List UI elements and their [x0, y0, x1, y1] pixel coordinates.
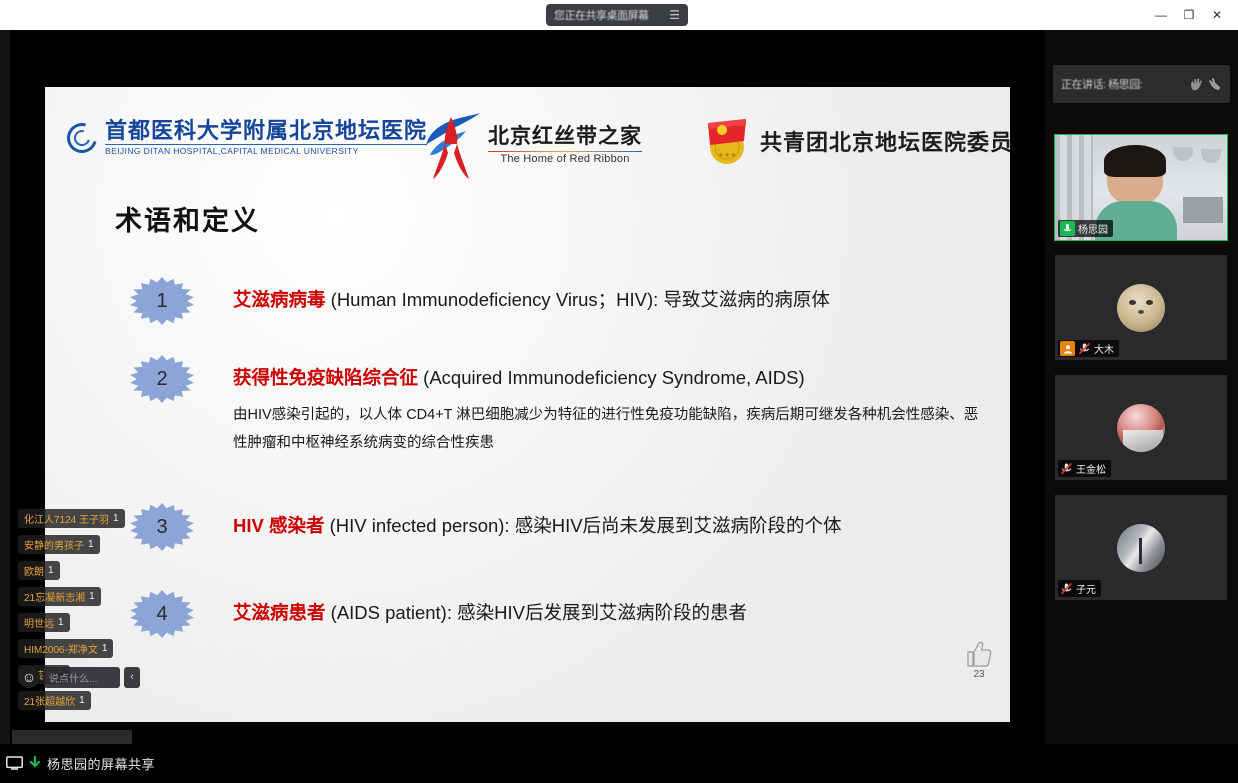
- meeting-stage: 首都医科大学附属北京地坛医院 BEIJING DITAN HOSPITAL,CA…: [0, 30, 1238, 783]
- chat-message-count: 1: [113, 513, 119, 524]
- logo-ditan-hospital: 首都医科大学附属北京地坛医院 BEIJING DITAN HOSPITAL,CA…: [67, 119, 427, 156]
- reaction-count: 23: [973, 669, 984, 680]
- avatar-placeholder-icon: [1060, 341, 1075, 356]
- screen-share-owner-text: 杨思园的屏幕共享: [47, 754, 155, 773]
- item-rest-4: (AIDS patient): 感染HIV后发展到艾滋病阶段的患者: [326, 602, 747, 623]
- cyl-logo-cn: 共青团北京地坛医院委员会: [760, 125, 1010, 157]
- chat-message: 明世远 1: [18, 613, 70, 632]
- participant-tile-0[interactable]: 杨思园: [1055, 135, 1227, 240]
- ditan-swirl-icon: [67, 123, 97, 153]
- chat-message: 安静的男孩子 1: [18, 535, 100, 554]
- avatar: [1117, 404, 1165, 452]
- item-heading-4: 艾滋病患者 (AIDS patient): 感染HIV后发展到艾滋病阶段的患者: [233, 599, 747, 625]
- restore-button[interactable]: ❐: [1182, 9, 1196, 21]
- hamburger-menu-icon[interactable]: ☰: [669, 9, 680, 21]
- item-heading-3: HIV 感染者 (HIV infected person): 感染HIV后尚未发…: [233, 512, 842, 538]
- chat-user-name: HIM2006-郑净文: [24, 641, 98, 656]
- item-body-2: 由HIV感染引起的，以人体 CD4+T 淋巴细胞减少为特征的进行性免疫功能缺陷，…: [233, 401, 983, 458]
- monitor-icon: [6, 756, 23, 771]
- chat-user-name: 欧朗: [24, 563, 44, 578]
- chat-message-count: 1: [79, 695, 85, 706]
- item-number-2: 2: [156, 368, 167, 391]
- download-arrow-icon: [28, 756, 42, 771]
- participant-tile-3[interactable]: 子元: [1055, 495, 1227, 600]
- item-rest-3: (HIV infected person): 感染HIV后尚未发展到艾滋病阶段的…: [324, 515, 841, 536]
- chat-user-name: 化江人7124 王子羽: [24, 511, 109, 526]
- ditan-logo-en: BEIJING DITAN HOSPITAL,CAPITAL MEDICAL U…: [105, 144, 427, 156]
- ribbon-logo-en: The Home of Red Ribbon: [488, 151, 642, 165]
- hand-wave-icon: [1189, 77, 1204, 92]
- item-term-3: HIV 感染者: [233, 515, 324, 536]
- avatar: [1117, 284, 1165, 332]
- chat-message-count: 1: [89, 591, 95, 602]
- youth-league-emblem-icon: ★★★: [700, 117, 754, 165]
- participant-label: 王金松: [1058, 460, 1111, 477]
- slide-title: 术语和定义: [115, 199, 260, 238]
- participant-rail: 正在讲话: 杨思园:: [1045, 30, 1238, 744]
- chat-message-count: 1: [58, 617, 64, 628]
- chat-message-count: 1: [102, 643, 108, 654]
- screen-share-status-bar: 杨思园的屏幕共享: [0, 744, 1238, 783]
- participant-tile-2[interactable]: 王金松: [1055, 375, 1227, 480]
- chat-message: HIM2006-郑净文 1: [18, 639, 113, 658]
- participant-name-1: 大木: [1094, 341, 1114, 356]
- red-ribbon-icon: [420, 109, 482, 181]
- mic-muted-icon: [1078, 342, 1091, 355]
- item-term-4: 艾滋病患者: [233, 602, 326, 623]
- participant-name-3: 子元: [1076, 581, 1096, 596]
- item-number-badge: 2: [128, 355, 196, 403]
- participant-name-0: 杨思园: [1078, 221, 1108, 236]
- item-number-4: 4: [156, 603, 167, 626]
- minimize-button[interactable]: —: [1154, 9, 1168, 21]
- participant-label: 杨思园: [1058, 220, 1113, 237]
- chat-user-name: 21张超越欣: [24, 693, 75, 708]
- mic-muted-icon: [1060, 462, 1073, 475]
- chat-message: 21忘凝新志湘 1: [18, 587, 101, 606]
- chat-input-row: ☺ 说点什么... ‹: [18, 666, 140, 688]
- chevron-left-icon[interactable]: ‹: [124, 667, 140, 688]
- zoom-meeting-window: 您正在共享桌面屏幕 ☰ — ❐ ✕ 首都医科大学附属北京地坛医院 BEIJING…: [0, 0, 1238, 783]
- item-term-2: 获得性免疫缺陷综合征: [233, 367, 418, 388]
- item-number-badge: 1: [128, 277, 196, 325]
- smiley-icon[interactable]: ☺: [18, 666, 40, 688]
- window-controls: — ❐ ✕: [1154, 0, 1234, 30]
- item-rest-2: (Acquired Immunodeficiency Syndrome, AID…: [418, 367, 805, 388]
- close-button[interactable]: ✕: [1210, 9, 1224, 21]
- participant-label: 大木: [1058, 340, 1119, 357]
- active-speaker-label: 正在讲话: 杨思园:: [1061, 76, 1142, 92]
- item-number-3: 3: [156, 516, 167, 539]
- chat-message-count: 1: [88, 539, 94, 550]
- chat-user-name: 21忘凝新志湘: [24, 589, 85, 604]
- window-title-bar: 您正在共享桌面屏幕 ☰ — ❐ ✕: [0, 0, 1238, 30]
- chat-message: 21张超越欣 1: [18, 691, 91, 710]
- chat-message: 欧朗 1: [18, 561, 60, 580]
- chat-message-count: 1: [48, 565, 54, 576]
- thumbs-up-icon: [966, 640, 992, 668]
- logo-communist-youth-league: ★★★ 共青团北京地坛医院委员会: [700, 117, 1010, 165]
- screen-share-status-text: 您正在共享桌面屏幕: [554, 7, 663, 23]
- shared-screen-area: 首都医科大学附属北京地坛医院 BEIJING DITAN HOSPITAL,CA…: [10, 30, 1045, 744]
- participant-label: 子元: [1058, 580, 1101, 597]
- presentation-slide: 首都医科大学附属北京地坛医院 BEIJING DITAN HOSPITAL,CA…: [45, 87, 1010, 722]
- mic-active-icon: [1060, 221, 1075, 236]
- bottom-bar-nub: [12, 730, 132, 744]
- reaction-thumbs-up[interactable]: 23: [966, 640, 992, 680]
- item-heading-1: 艾滋病病毒 (Human Immunodeficiency Virus；HIV)…: [233, 286, 830, 312]
- logo-red-ribbon: 北京红丝带之家 The Home of Red Ribbon: [420, 109, 642, 181]
- slide-logo-row: 首都医科大学附属北京地坛医院 BEIJING DITAN HOSPITAL,CA…: [45, 109, 1010, 187]
- chat-user-name: 明世远: [24, 615, 54, 630]
- item-rest-1: (Human Immunodeficiency Virus；HIV): 导致艾滋…: [326, 289, 830, 310]
- ribbon-logo-cn: 北京红丝带之家: [488, 125, 642, 149]
- avatar: [1117, 524, 1165, 572]
- chat-message: 化江人7124 王子羽 1: [18, 509, 125, 528]
- mic-muted-icon: [1060, 582, 1073, 595]
- item-term-1: 艾滋病病毒: [233, 289, 326, 310]
- item-heading-2: 获得性免疫缺陷综合征 (Acquired Immunodeficiency Sy…: [233, 364, 805, 390]
- chat-user-name: 安静的男孩子: [24, 537, 84, 552]
- chat-input[interactable]: 说点什么...: [44, 667, 120, 688]
- svg-text:★★★: ★★★: [718, 151, 737, 159]
- rail-action-icons[interactable]: [1189, 77, 1222, 92]
- active-speaker-bar: 正在讲话: 杨思园:: [1053, 65, 1230, 103]
- screen-share-toolbar-pill[interactable]: 您正在共享桌面屏幕 ☰: [546, 4, 688, 26]
- raise-hand-icon: [1207, 77, 1222, 92]
- participant-tile-1[interactable]: 大木: [1055, 255, 1227, 360]
- item-number-1: 1: [156, 290, 167, 313]
- participant-name-2: 王金松: [1076, 461, 1106, 476]
- left-border-strip: [0, 30, 10, 744]
- ditan-logo-cn: 首都医科大学附属北京地坛医院: [105, 119, 427, 143]
